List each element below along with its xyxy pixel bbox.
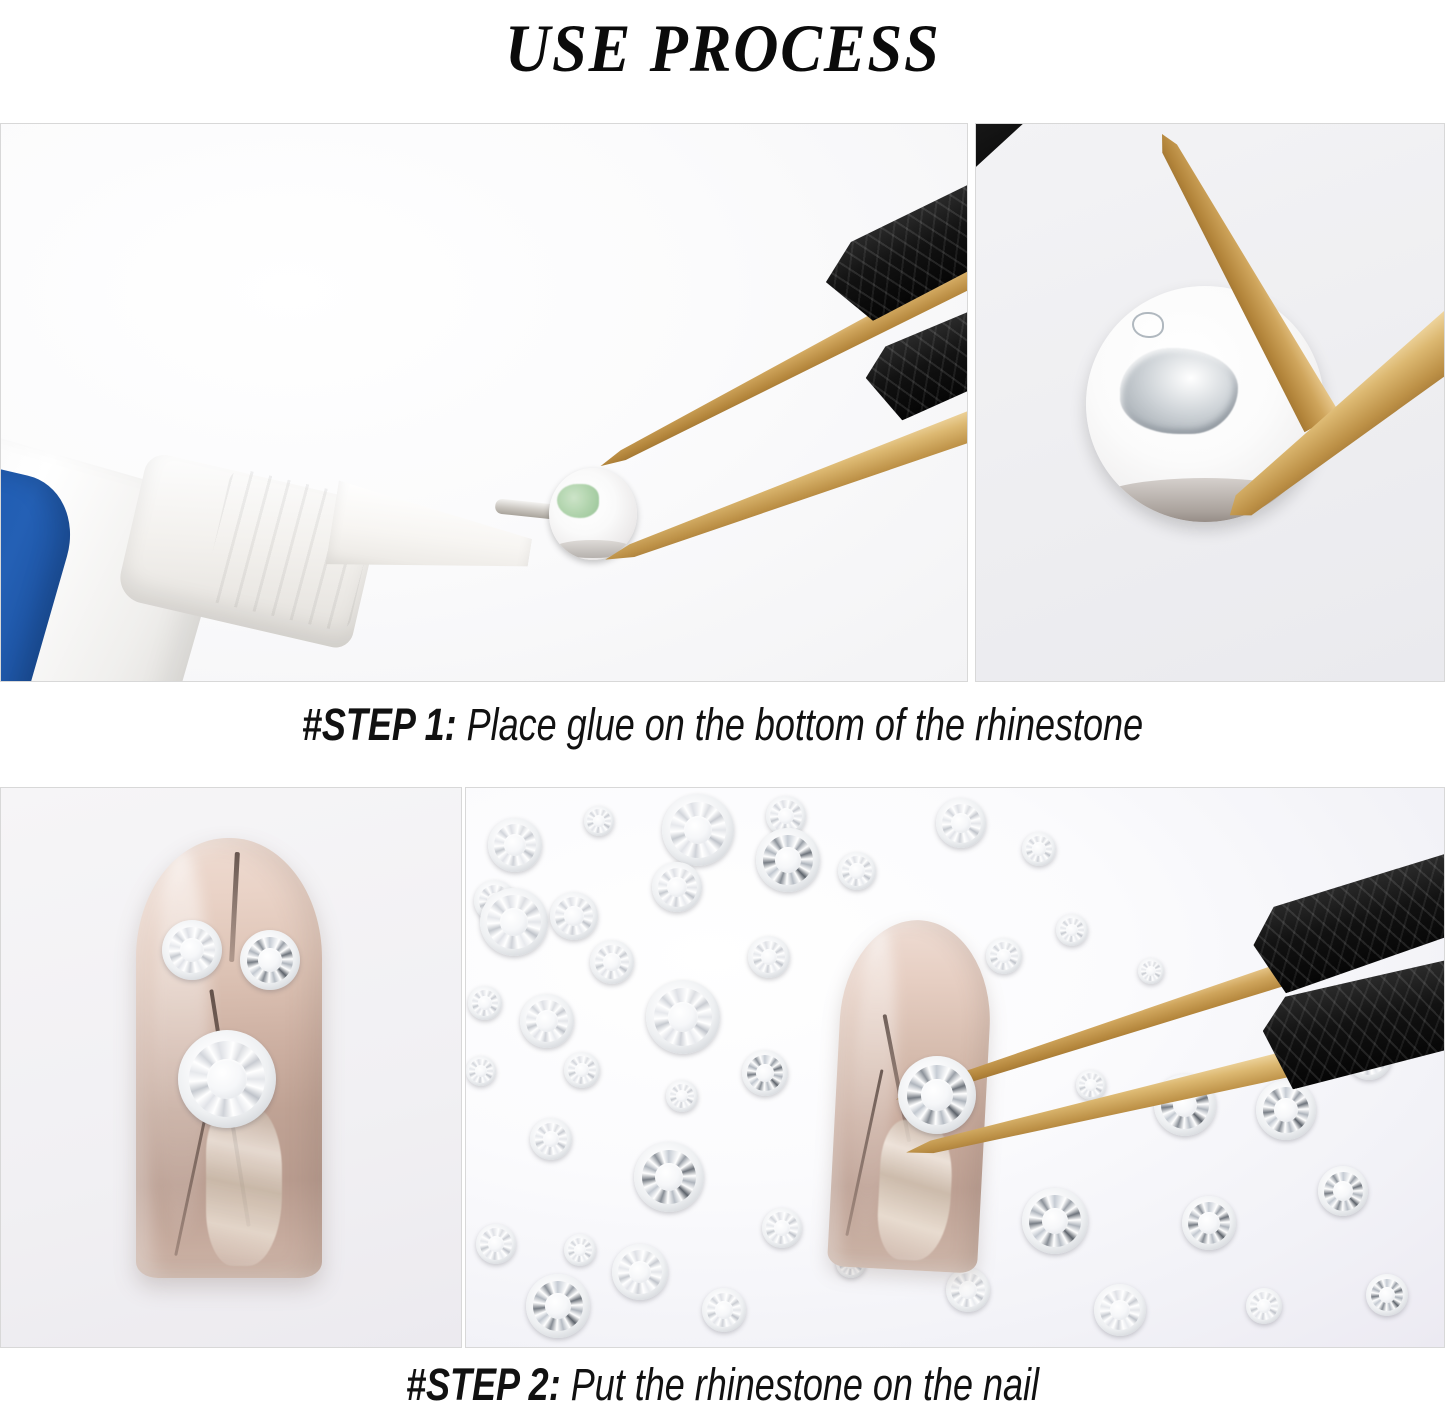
scattered-rhinestone [1076,1070,1106,1100]
glue-droplet [557,484,599,518]
scattered-rhinestone [520,994,574,1048]
scattered-rhinestone [590,940,634,984]
glue-on-rhinestone-photo [975,123,1445,682]
step-1-text: Place glue on the bottom of the rhinesto… [457,699,1143,750]
rhinestone-being-placed [898,1056,976,1134]
scattered-rhinestone [762,1208,802,1248]
scattered-rhinestone [584,806,614,836]
nail-rhinestone [240,930,300,990]
scattered-rhinestone [564,1234,596,1266]
page-header: USE PROCESS [0,0,1445,96]
scattered-rhinestone [476,1224,516,1264]
scattered-rhinestone [488,818,542,872]
glue-droplet-outline [1132,312,1164,338]
applying-rhinestone-photo [465,787,1445,1348]
glue-bottle-and-tweezers-photo [0,123,968,682]
scattered-rhinestone [530,1118,572,1160]
scattered-rhinestone [564,1052,600,1088]
step-2-caption: #STEP 2: Put the rhinestone on the nail [145,1362,1301,1407]
scattered-rhinestone [748,936,790,978]
glue-blob [1120,348,1238,434]
scattered-rhinestone [1094,1284,1146,1336]
step-1-label: #STEP 1: [302,699,457,750]
scattered-rhinestone [1182,1196,1236,1250]
scattered-rhinestone [526,1274,590,1338]
step-1-caption: #STEP 1: Place glue on the bottom of the… [145,702,1301,747]
scattered-rhinestone [634,1142,704,1212]
nail-art-line [229,852,240,962]
scattered-rhinestone [612,1244,668,1300]
scattered-rhinestone [838,852,876,890]
scattered-rhinestone [1366,1274,1408,1316]
scattered-rhinestone [1022,832,1056,866]
nail-foil-accent [206,1106,282,1266]
scattered-rhinestone [1246,1288,1282,1324]
scattered-rhinestone [646,980,720,1054]
scattered-rhinestone [986,938,1022,974]
scattered-rhinestone [652,862,702,912]
step-1-photo-row [0,123,1445,682]
rhinestone-on-nozzle [549,468,637,560]
scattered-rhinestone [1056,914,1088,946]
scattered-rhinestone [1256,1080,1316,1140]
step-2-text: Put the rhinestone on the nail [561,1359,1039,1410]
scattered-rhinestone [550,892,598,940]
scattered-rhinestone [666,1080,698,1112]
scattered-rhinestone [946,1268,990,1312]
scattered-rhinestone [480,888,548,956]
scattered-rhinestone [468,986,502,1020]
scattered-rhinestone [936,798,986,848]
scattered-rhinestone [756,828,820,892]
scattered-rhinestone [1138,958,1164,984]
nail-rhinestone-large [178,1030,276,1128]
scattered-rhinestone [742,1050,788,1096]
scattered-rhinestone [662,794,734,866]
scattered-rhinestone [1318,1166,1368,1216]
scattered-rhinestone [466,1056,496,1086]
nail-rhinestone [162,920,222,980]
page-title: USE PROCESS [505,14,941,82]
scattered-rhinestone [1022,1188,1088,1254]
scattered-rhinestone [702,1288,746,1332]
step-2-label: #STEP 2: [406,1359,561,1410]
